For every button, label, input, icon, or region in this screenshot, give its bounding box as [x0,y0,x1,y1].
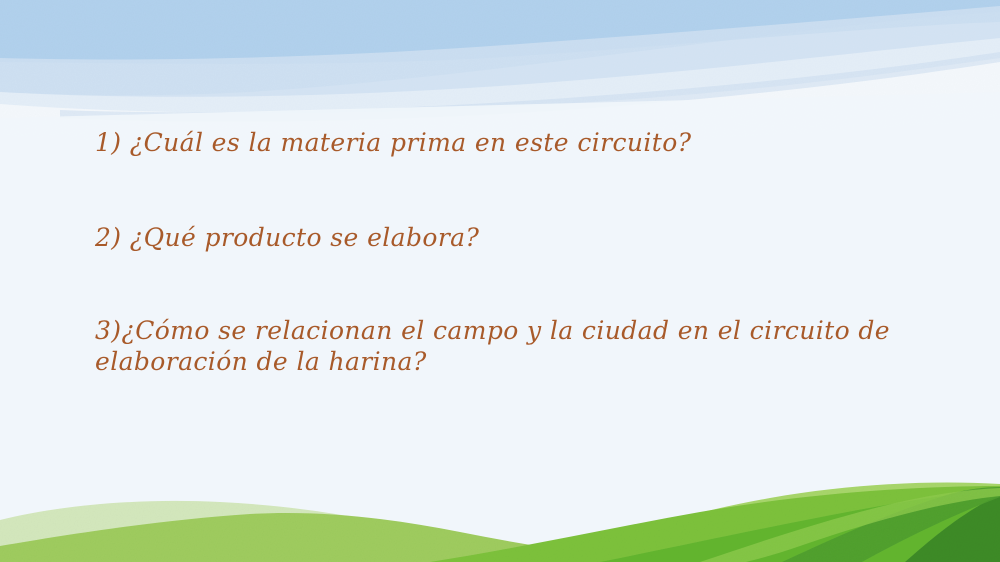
hill-dark-sliver [782,487,1000,562]
hill-mid-green [430,486,1000,562]
hill-vivid-wedge [600,490,1000,562]
hill-bright-center [0,513,700,562]
question-2: 2) ¿Qué producto se elabora? [95,223,915,254]
hill-light-right [520,483,1000,562]
question-1: 1) ¿Cuál es la materia prima en este cir… [95,128,915,159]
hill-dark-right [905,494,1000,562]
wave-layer-light-blue [0,6,1000,101]
presentation-slide: 1) ¿Cuál es la materia prima en este cir… [0,0,1000,562]
wave-layer-mid-blue [0,0,1000,95]
wave-layer-tail-wisp [60,52,1000,122]
questions-text-block: 1) ¿Cuál es la materia prima en este cir… [95,128,915,377]
question-3: 3)¿Cómo se relacionan el campo y la ciud… [95,316,915,377]
hill-highlight-band [700,488,1000,562]
wave-layer-pale-highlight [0,38,1000,123]
hill-pale-left [0,501,520,562]
wave-layer-deep-blue [0,0,1000,64]
